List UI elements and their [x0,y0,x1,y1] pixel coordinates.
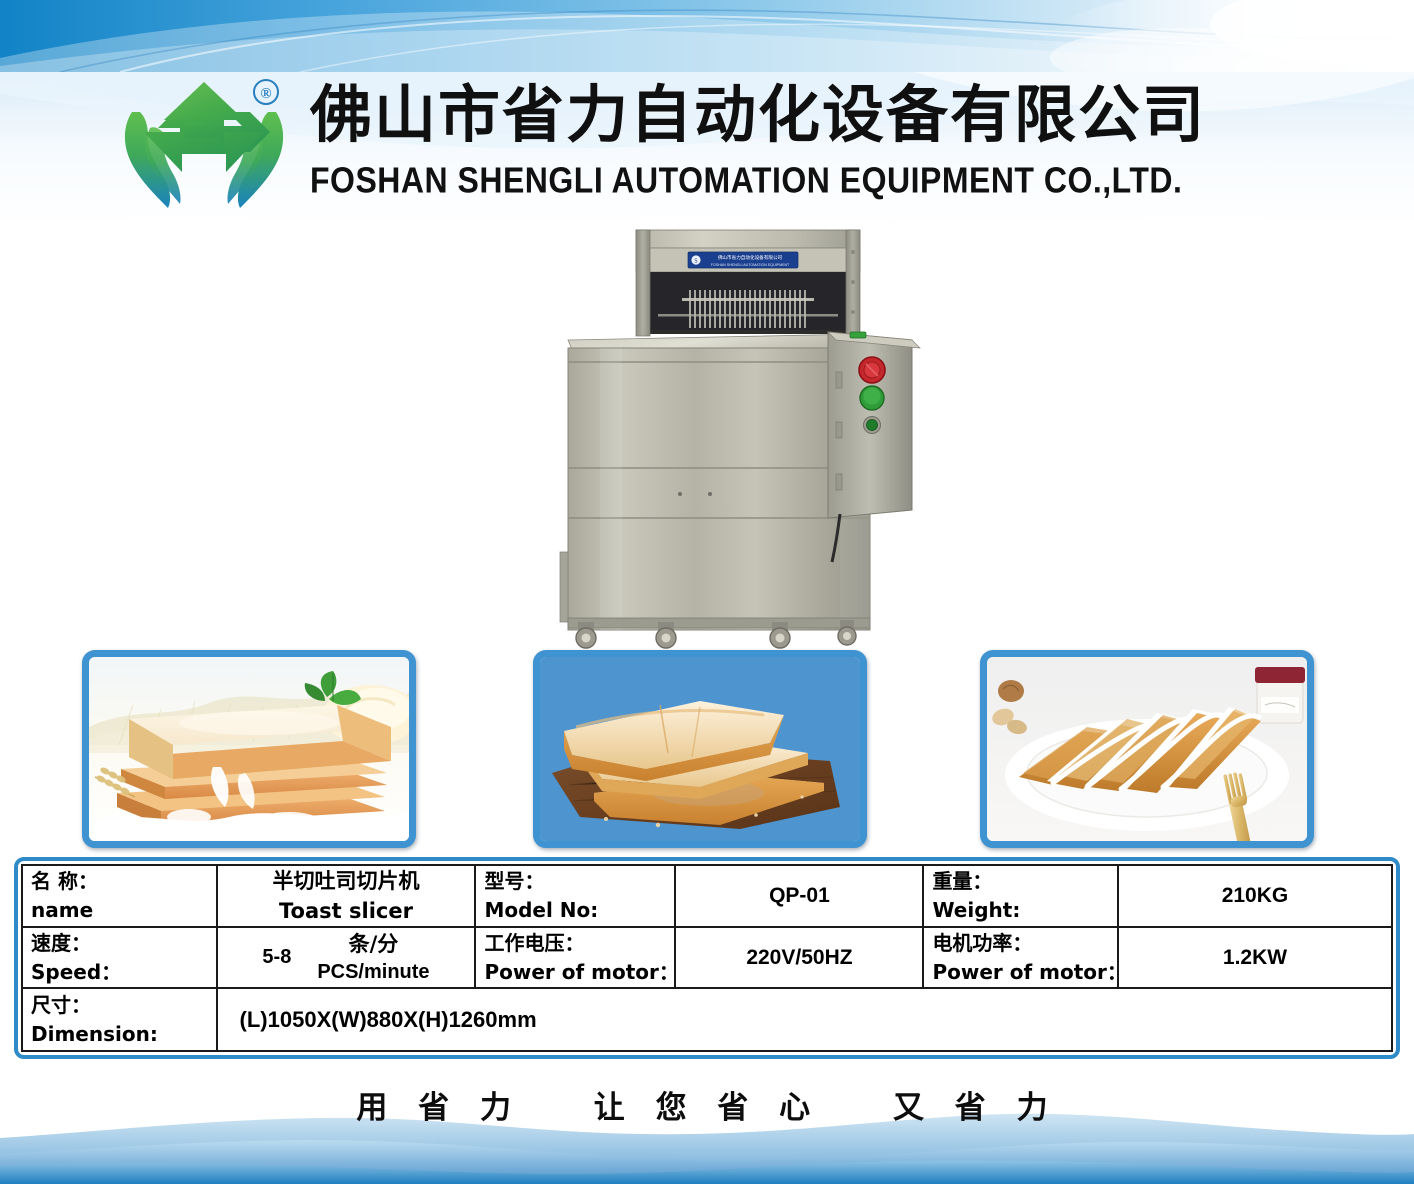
label-speed-en: Speed： [31,958,208,987]
label-model-en: Model No: [484,896,666,925]
slogan-part-2: 让 您 省 心 [594,1090,820,1126]
value-name-en: Toast slicer [226,896,467,926]
company-title-block: 佛山市省力自动化设备有限公司 FOSHAN SHENGLI AUTOMATION… [310,78,1330,198]
cell-label-speed: 速度： Speed： [22,927,217,988]
cell-label-name: 名 称： name [22,865,217,927]
toast-slices-with-milk-image [89,657,409,841]
banner-wave-graphics [0,0,1414,72]
product-photo-1 [82,650,416,848]
value-speed-unit-cn: 条/分 [317,930,429,958]
company-name-cn: 佛山市省力自动化设备有限公司 [310,78,1330,152]
slogan-part-1: 用 省 力 [356,1090,521,1126]
specification-table: 名 称： name 半切吐司切片机 Toast slicer 型号： Model… [21,864,1393,1052]
cell-label-power: 电机功率： Power of motor： [923,927,1118,988]
product-photo-3 [980,650,1314,848]
specification-table-wrapper: 名 称： name 半切吐司切片机 Toast slicer 型号： Model… [14,857,1400,1059]
cell-label-model: 型号： Model No: [475,865,675,927]
label-speed-cn: 速度： [31,929,208,958]
label-model-cn: 型号： [484,867,666,896]
cell-value-dimension: (L)1050X(W)880X(H)1260mm [217,988,1392,1051]
slogan-part-3: 又 省 力 [893,1090,1058,1126]
company-name-en: FOSHAN SHENGLI AUTOMATION EQUIPMENT CO.,… [310,158,1330,203]
label-dimension-en: Dimension: [31,1020,208,1049]
value-power: 1.2KW [1127,946,1383,970]
machine-product-photo: S 佛山市省力自动化设备有限公司 FOSHAN SHENGLI AUTOMATI… [540,222,960,652]
value-name-cn: 半切吐司切片机 [226,866,467,896]
bread-on-wooden-board-image [540,657,860,841]
toast-slicer-machine-illustration: S 佛山市省力自动化设备有限公司 FOSHAN SHENGLI AUTOMATI… [540,222,960,652]
cell-value-voltage: 220V/50HZ [675,927,923,988]
value-model: QP-01 [684,884,914,908]
label-weight-cn: 重量： [932,867,1109,896]
cell-value-model: QP-01 [675,865,923,927]
sliced-bread-on-plate-image [987,657,1307,841]
value-speed-unit-en: PCS/minute [317,958,429,986]
value-speed-number: 5-8 [262,946,291,969]
cell-value-weight: 210KG [1118,865,1392,927]
cell-label-weight: 重量： Weight: [923,865,1118,927]
green-indicator-strip [850,332,866,338]
table-row-dimension: 尺寸： Dimension: (L)1050X(W)880X(H)1260mm [22,988,1392,1051]
label-dimension-cn: 尺寸： [31,991,208,1020]
company-slogan: 用 省 力 让 您 省 心 又 省 力 [0,1082,1414,1127]
value-weight: 210KG [1127,884,1383,908]
cell-label-dimension: 尺寸： Dimension: [22,988,217,1051]
shengli-logo-icon: ® [118,76,290,218]
company-logo: ® [118,76,290,218]
bread-stack [117,705,391,825]
registered-mark-glyph: ® [260,86,271,102]
label-voltage-en: Power of motor： [484,958,666,987]
label-weight-en: Weight: [932,896,1109,925]
label-name-cn: 名 称： [31,867,208,896]
indicator-lamp [867,420,878,431]
header-zone: ® 佛山市省力自动化设备有限公司 FOSHAN SHENGLI AUTOMATI… [0,0,1414,228]
svg-text:FOSHAN SHENGLI AUTOMATION EQUI: FOSHAN SHENGLI AUTOMATION EQUIPMENT [711,263,790,267]
svg-text:S: S [694,259,697,265]
label-name-en: name [31,896,208,925]
label-power-cn: 电机功率： [932,929,1109,958]
product-photo-2 [533,650,867,848]
registered-trademark-icon: ® [254,80,278,104]
cell-value-power: 1.2KW [1118,927,1392,988]
header-banner [0,0,1414,72]
label-voltage-cn: 工作电压： [484,929,666,958]
jam-jar [1255,667,1305,723]
label-power-en: Power of motor： [932,958,1109,987]
value-dimension: (L)1050X(W)880X(H)1260mm [226,1007,1383,1033]
cell-label-voltage: 工作电压： Power of motor： [475,927,675,988]
table-row-speed: 速度： Speed： 5-8 条/分 PCS/minute 工作电压： Powe… [22,927,1392,988]
value-voltage: 220V/50HZ [684,946,914,970]
svg-text:佛山市省力自动化设备有限公司: 佛山市省力自动化设备有限公司 [718,254,783,261]
table-row-name: 名 称： name 半切吐司切片机 Toast slicer 型号： Model… [22,865,1392,927]
cell-value-speed: 5-8 条/分 PCS/minute [217,927,476,988]
cell-value-name: 半切吐司切片机 Toast slicer [217,865,476,927]
